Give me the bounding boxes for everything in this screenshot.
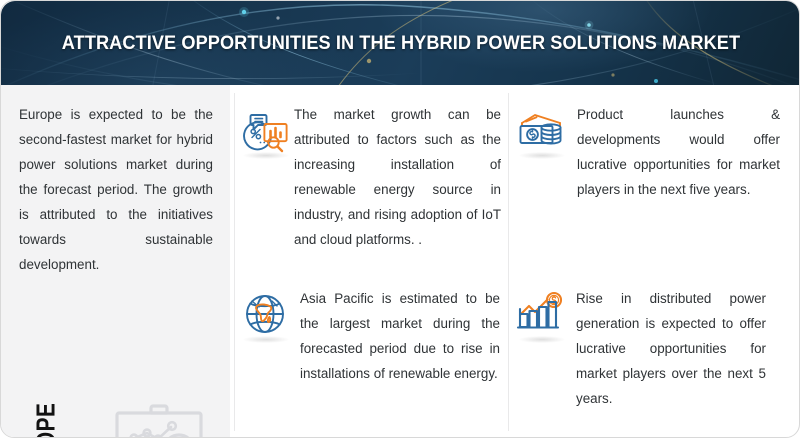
card-product-launches: Product launches & developments would of… xyxy=(515,102,785,202)
icon-shadow xyxy=(519,152,565,159)
header-banner: ATTRACTIVE OPPORTUNITIES IN THE HYBRID P… xyxy=(1,1,800,85)
europe-summary-text: Europe is expected to be the second-fast… xyxy=(19,102,213,277)
icon-shadow xyxy=(519,336,565,343)
divider-middle xyxy=(508,93,509,431)
card-market-growth-text: The market growth can be attributed to f… xyxy=(294,102,501,252)
globe-icon xyxy=(239,288,291,340)
left-region-panel: Europe is expected to be the second-fast… xyxy=(1,85,230,438)
card-distributed-power-text: Rise in distributed power generation is … xyxy=(576,286,766,411)
page-title: ATTRACTIVE OPPORTUNITIES IN THE HYBRID P… xyxy=(29,1,773,85)
region-label-text: EUROPE xyxy=(31,402,62,438)
card-asia-pacific: Asia Pacific is estimated to be the larg… xyxy=(239,286,501,386)
region-label-europe: EUROPE xyxy=(29,385,63,438)
icon-shadow xyxy=(243,336,289,343)
card-product-launches-text: Product launches & developments would of… xyxy=(577,102,780,202)
card-market-growth: The market growth can be attributed to f… xyxy=(239,102,501,252)
market-analysis-icon xyxy=(239,104,291,156)
infographic-root: ATTRACTIVE OPPORTUNITIES IN THE HYBRID P… xyxy=(0,0,800,438)
card-asia-pacific-text: Asia Pacific is estimated to be the larg… xyxy=(300,286,500,386)
growth-chart-dollar-icon xyxy=(515,288,567,340)
card-distributed-power: Rise in distributed power generation is … xyxy=(515,286,785,411)
presentation-analytics-icon xyxy=(105,397,213,438)
icon-shadow xyxy=(243,152,289,159)
divider-left xyxy=(234,93,235,431)
cash-money-icon xyxy=(515,104,567,156)
